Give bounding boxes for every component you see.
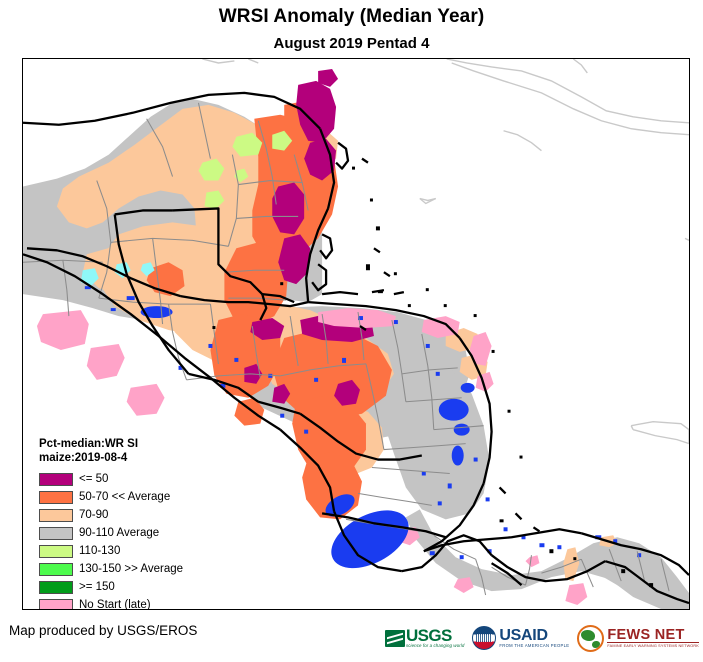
fewsnet-wordmark: FEWS NET xyxy=(607,628,699,643)
usaid-seal-icon xyxy=(472,626,496,650)
legend-row: 110-130 xyxy=(39,542,183,560)
legend-swatch xyxy=(39,509,73,522)
page-title: WRSI Anomaly (Median Year) xyxy=(0,6,703,28)
legend-swatch xyxy=(39,491,73,504)
fewsnet-tagline: FAMINE EARLY WARNING SYSTEMS NETWORK xyxy=(607,643,699,649)
legend-title-line1: Pct-median:WR SI xyxy=(39,437,183,451)
legend-label: 90-110 Average xyxy=(79,527,159,540)
legend-row: 90-110 Average xyxy=(39,524,183,542)
legend-label: No Start (late) xyxy=(79,599,151,611)
legend-swatch xyxy=(39,581,73,594)
legend-label: 110-130 xyxy=(79,545,120,558)
legend-label: 50-70 << Average xyxy=(79,491,170,504)
legend-label: 70-90 xyxy=(79,509,108,522)
usaid-wordmark: USAID xyxy=(499,628,569,643)
map-legend: Pct-median:WR SI maize:2019-08-4 <= 5050… xyxy=(39,437,183,610)
usgs-logo: USGS science for a changing world xyxy=(385,621,464,655)
legend-label: <= 50 xyxy=(79,473,108,486)
usgs-tagline: science for a changing world xyxy=(406,643,464,649)
fewsnet-logo: FEWS NET FAMINE EARLY WARNING SYSTEMS NE… xyxy=(577,621,699,655)
footer-credit: Map produced by USGS/EROS xyxy=(9,623,197,638)
legend-row: <= 50 xyxy=(39,470,183,488)
legend-rows: <= 5050-70 << Average70-9090-110 Average… xyxy=(39,470,183,610)
legend-row: 50-70 << Average xyxy=(39,488,183,506)
logo-bar: USGS science for a changing world USAID … xyxy=(385,618,699,658)
legend-row: >= 150 xyxy=(39,578,183,596)
legend-swatch xyxy=(39,527,73,540)
usgs-wave-icon xyxy=(385,630,405,647)
title-block: WRSI Anomaly (Median Year) August 2019 P… xyxy=(0,0,703,52)
map-frame[interactable]: Pct-median:WR SI maize:2019-08-4 <= 5050… xyxy=(22,58,690,610)
legend-swatch xyxy=(39,545,73,558)
legend-title-line2: maize:2019-08-4 xyxy=(39,451,183,465)
legend-swatch xyxy=(39,473,73,486)
usaid-logo: USAID FROM THE AMERICAN PEOPLE xyxy=(472,621,569,655)
legend-label: 130-150 >> Average xyxy=(79,563,183,576)
legend-row: 130-150 >> Average xyxy=(39,560,183,578)
usaid-tagline: FROM THE AMERICAN PEOPLE xyxy=(499,643,569,649)
legend-label: >= 150 xyxy=(79,581,115,594)
legend-row: 70-90 xyxy=(39,506,183,524)
fewsnet-globe-icon xyxy=(577,625,604,652)
page-subtitle: August 2019 Pentad 4 xyxy=(0,35,703,52)
usgs-wordmark: USGS xyxy=(406,628,464,643)
legend-swatch xyxy=(39,599,73,611)
legend-row: No Start (late) xyxy=(39,596,183,610)
legend-swatch xyxy=(39,563,73,576)
